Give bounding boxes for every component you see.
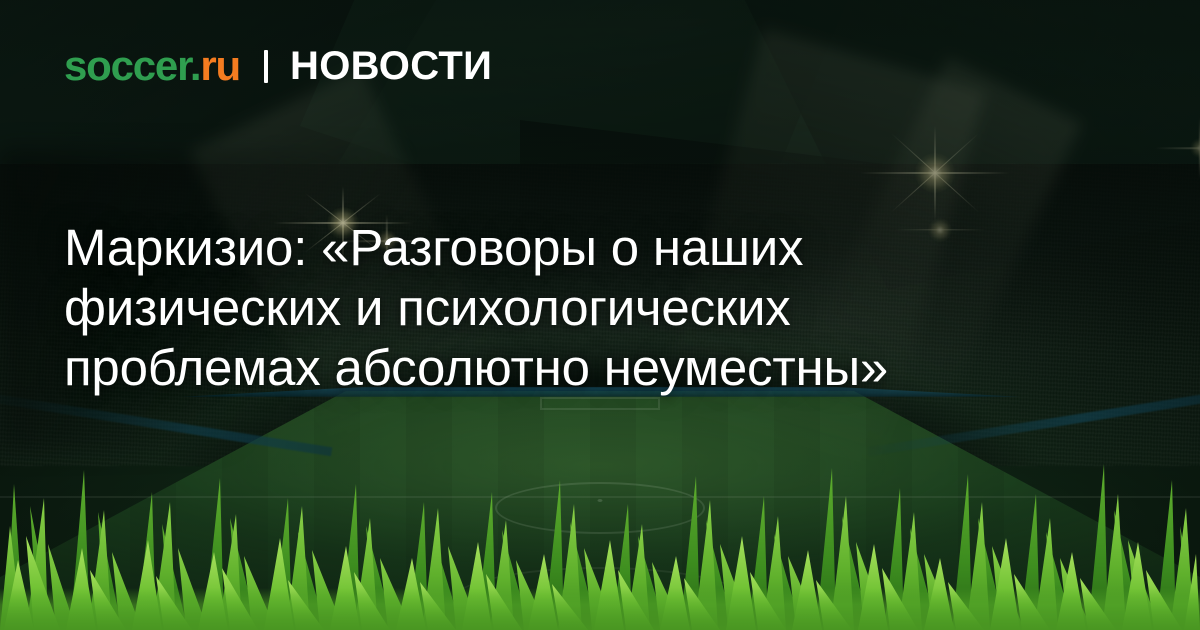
section-label-news: НОВОСТИ bbox=[290, 46, 492, 86]
site-header: soccer.ru НОВОСТИ bbox=[64, 45, 492, 87]
grass-base-fill bbox=[0, 588, 1200, 630]
news-share-card: soccer.ru НОВОСТИ Маркизио: «Разговоры о… bbox=[0, 0, 1200, 630]
logo-text-ru: ru bbox=[200, 42, 240, 89]
article-headline: Маркизио: «Разговоры о наших физических … bbox=[64, 218, 1144, 398]
headline-line-2: физических и психологических bbox=[64, 278, 1144, 338]
foreground-grass bbox=[0, 440, 1200, 630]
headline-line-3: проблемах абсолютно неуместны» bbox=[64, 338, 1144, 398]
logo-text-dot: . bbox=[190, 42, 200, 89]
headline-line-1: Маркизио: «Разговоры о наших bbox=[64, 218, 1144, 278]
logo-text-soccer: soccer bbox=[64, 42, 190, 89]
header-divider bbox=[264, 50, 268, 83]
soccer-ru-logo[interactable]: soccer.ru bbox=[64, 45, 240, 87]
